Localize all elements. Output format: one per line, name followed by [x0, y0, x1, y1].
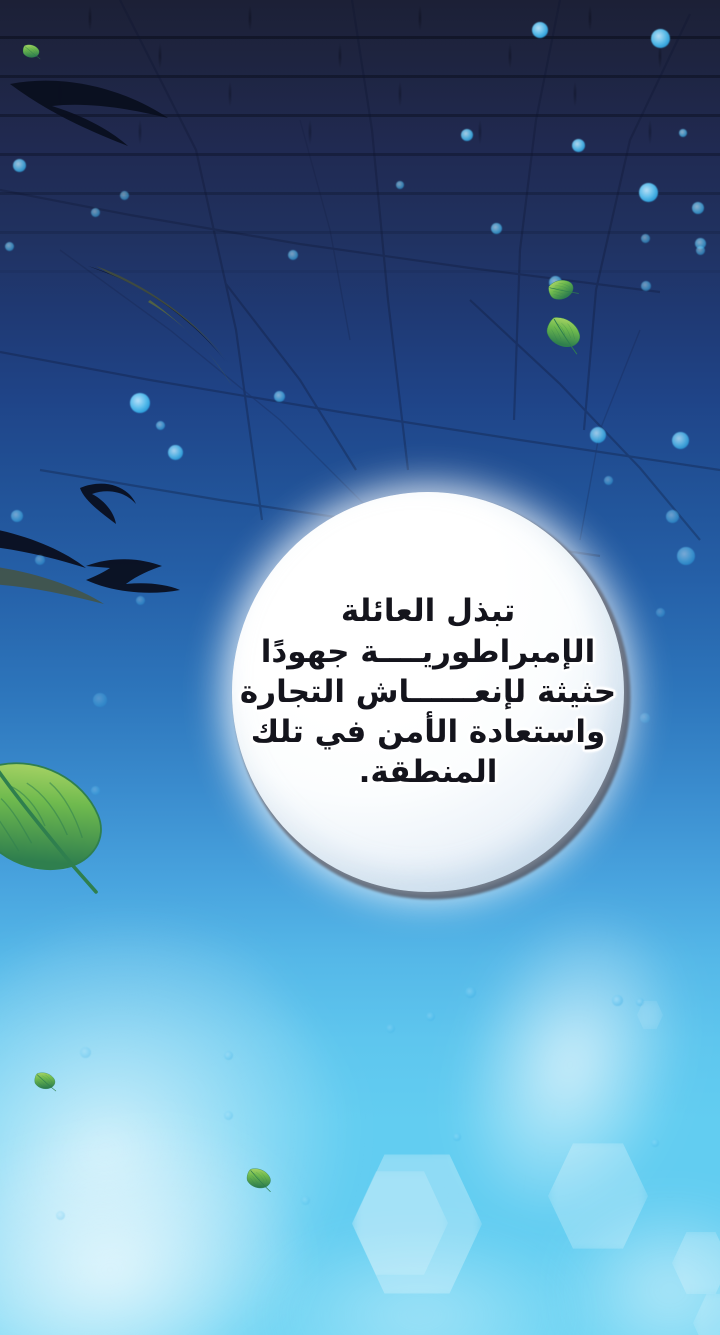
speech-line-1: تبذل العائلة — [341, 591, 515, 631]
speech-bubble[interactable]: تبذل العائلة الإمبراطوريــــة جهودًا حثي… — [232, 492, 624, 892]
speech-line-2: الإمبراطوريــــة جهودًا — [261, 632, 596, 672]
speech-line-5: المنطقة. — [359, 752, 498, 792]
speech-line-3: حثيثة لإنعــــــاش التجارة — [240, 672, 616, 712]
comic-panel: تبذل العائلة الإمبراطوريــــة جهودًا حثي… — [0, 0, 720, 1335]
speech-line-4: واستعادة الأمن في تلك — [251, 712, 606, 752]
speech-bubble-text: تبذل العائلة الإمبراطوريــــة جهودًا حثي… — [232, 492, 624, 892]
